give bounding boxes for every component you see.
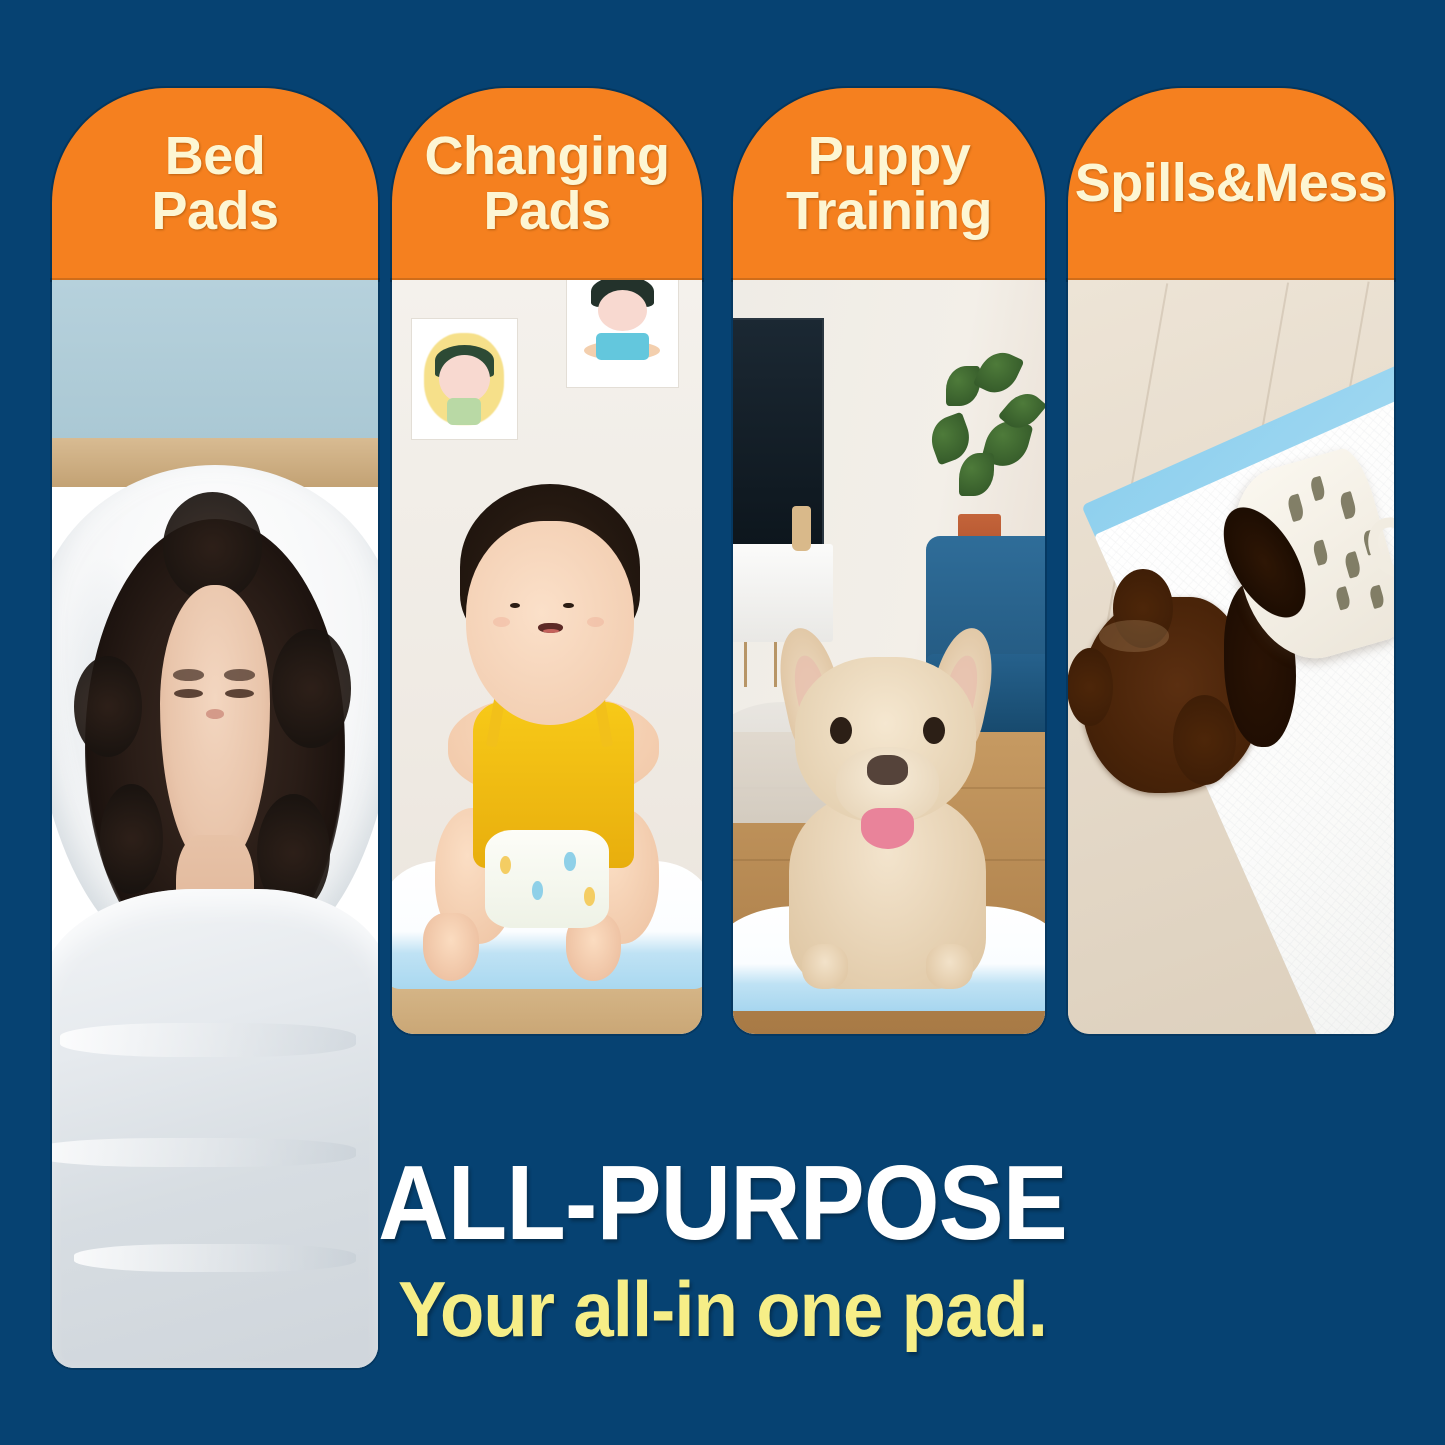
- tab-label-spills-and-mess: Spills&Mess: [1068, 156, 1394, 211]
- headline-secondary: Your all-in one pad.: [51, 1270, 1395, 1348]
- photo-spills-and-mess: [1068, 280, 1394, 1034]
- tab-label-bed-pads: Bed Pads: [151, 129, 278, 239]
- headline-block: ALL-PURPOSE Your all-in one pad.: [0, 1150, 1445, 1348]
- headline-primary: ALL-PURPOSE: [58, 1150, 1387, 1256]
- photo-changing-pads: [392, 280, 702, 1034]
- tab-spills-and-mess[interactable]: Spills&Mess: [1068, 88, 1394, 280]
- column-spills-and-mess: Spills&Mess: [1068, 88, 1394, 1034]
- photo-puppy-training: [733, 280, 1045, 1034]
- poster-canvas: Bed Pads: [0, 0, 1445, 1445]
- tab-puppy-training[interactable]: Puppy Training: [733, 88, 1045, 280]
- tab-label-puppy-training: Puppy Training: [733, 129, 1045, 239]
- tab-changing-pads[interactable]: Changing Pads: [392, 88, 702, 280]
- column-changing-pads: Changing Pads: [392, 88, 702, 1034]
- tab-label-changing-pads: Changing Pads: [392, 129, 702, 239]
- column-puppy-training: Puppy Training: [733, 88, 1045, 1034]
- tab-bed-pads[interactable]: Bed Pads: [52, 88, 378, 280]
